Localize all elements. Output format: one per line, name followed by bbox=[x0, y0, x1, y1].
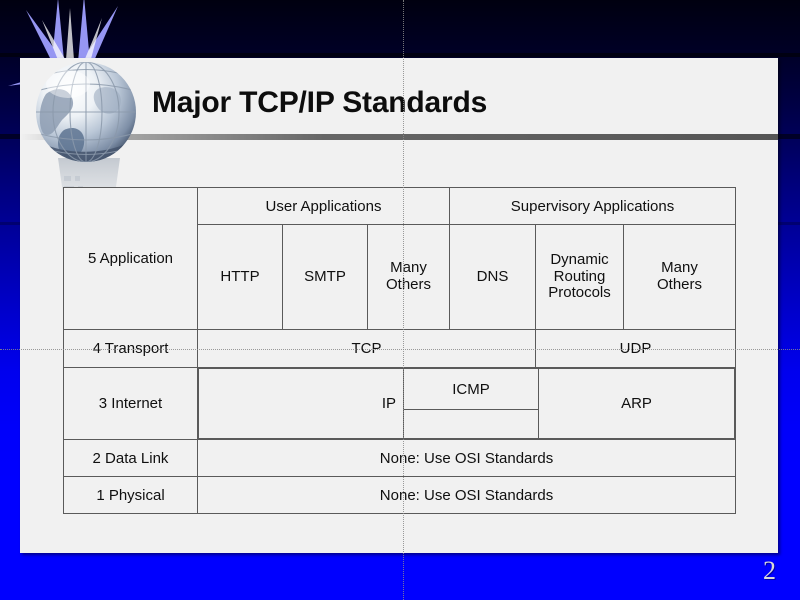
table-row: 1 Physical None: Use OSI Standards bbox=[64, 477, 736, 514]
layer-label-internet: 3 Internet bbox=[64, 368, 198, 440]
slide-number: 2 bbox=[763, 556, 776, 586]
internet-subgrid: IP ICMP ARP bbox=[198, 368, 735, 439]
protocol-cell-physical-standards: None: Use OSI Standards bbox=[198, 477, 736, 514]
protocol-cell-dynamic-routing-protocols: Dynamic Routing Protocols bbox=[536, 225, 624, 330]
table-row: 5 Application User Applications Supervis… bbox=[64, 188, 736, 225]
protocol-cell-dns: DNS bbox=[450, 225, 536, 330]
layer-label-data-link: 2 Data Link bbox=[64, 440, 198, 477]
protocol-cell-many-others-supervisory: Many Others bbox=[624, 225, 736, 330]
layer-label-application: 5 Application bbox=[64, 188, 198, 330]
table-row: 3 Internet IP ICMP bbox=[64, 368, 736, 440]
background-band bbox=[0, 53, 800, 57]
protocol-cell-smtp: SMTP bbox=[283, 225, 368, 330]
group-header-supervisory-applications: Supervisory Applications bbox=[450, 188, 736, 225]
table-row: 2 Data Link None: Use OSI Standards bbox=[64, 440, 736, 477]
protocol-cell-many-others-user: Many Others bbox=[368, 225, 450, 330]
protocol-cell-ip: IP bbox=[199, 369, 404, 439]
tcpip-standards-table: 5 Application User Applications Supervis… bbox=[63, 187, 736, 514]
group-header-user-applications: User Applications bbox=[198, 188, 450, 225]
table-row: 4 Transport TCP UDP bbox=[64, 330, 736, 368]
layer-label-physical: 1 Physical bbox=[64, 477, 198, 514]
protocol-cell-http: HTTP bbox=[198, 225, 283, 330]
title-divider bbox=[20, 134, 778, 140]
slide-content-panel: Major TCP/IP Standards bbox=[20, 58, 778, 553]
layer-label-transport: 4 Transport bbox=[64, 330, 198, 368]
protocol-cell-data-link-standards: None: Use OSI Standards bbox=[198, 440, 736, 477]
protocol-cell-arp: ARP bbox=[539, 369, 735, 439]
protocol-cell-udp: UDP bbox=[536, 330, 736, 368]
page-title: Major TCP/IP Standards bbox=[152, 86, 487, 120]
presentation-slide: Major TCP/IP Standards bbox=[0, 0, 800, 600]
internet-protocols-group: IP ICMP ARP bbox=[198, 368, 736, 440]
protocol-cell-icmp: ICMP bbox=[404, 369, 539, 410]
protocol-cell-tcp: TCP bbox=[198, 330, 536, 368]
